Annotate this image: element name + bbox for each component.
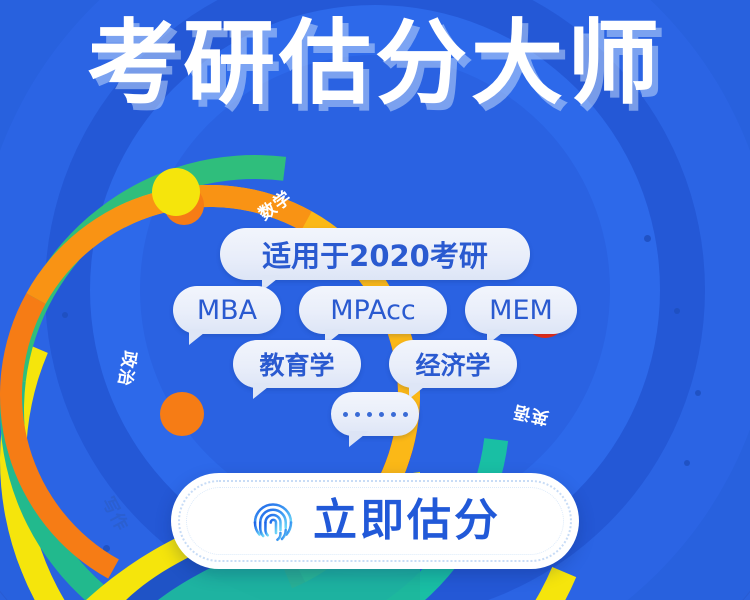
start-estimate-label: 立即估分 [313,499,501,543]
bubble-education[interactable]: 教育学 [233,340,361,388]
bubble-headline[interactable]: 适用于2020考研 [220,228,530,280]
bubble-mba[interactable]: MBA [173,286,281,334]
decor-dot [684,460,690,466]
bubble-mem-label: MEM [489,295,553,326]
bubble-row-programs: MBA MPAcc MEM [0,286,750,334]
bubble-group: 适用于2020考研 MBA MPAcc MEM 教育学 经济学 [0,228,750,436]
poster-canvas: 数学 政治 写作 英语 考研估分大师 适用于2020考研 MBA MPAcc M… [0,0,750,600]
bubble-mpacc-label: MPAcc [330,295,416,326]
bubble-mpacc[interactable]: MPAcc [299,286,447,334]
bubble-row-more [0,392,750,436]
start-estimate-button[interactable]: 立即估分 [171,473,579,569]
page-title: 考研估分大师 [0,16,750,113]
bubble-row-majors: 教育学 经济学 [0,340,750,388]
bubble-headline-label: 适用于2020考研 [262,233,488,275]
bubble-mem[interactable]: MEM [465,286,577,334]
arc-cap-writing-top [152,168,200,216]
ellipsis-icon [343,412,408,417]
bubble-more[interactable] [331,392,419,436]
fingerprint-icon [249,497,297,545]
bubble-row-headline: 适用于2020考研 [0,228,750,280]
bubble-mba-label: MBA [197,295,257,326]
bubble-economics[interactable]: 经济学 [389,340,517,388]
bubble-education-label: 教育学 [259,346,334,382]
bubble-economics-label: 经济学 [415,346,490,382]
